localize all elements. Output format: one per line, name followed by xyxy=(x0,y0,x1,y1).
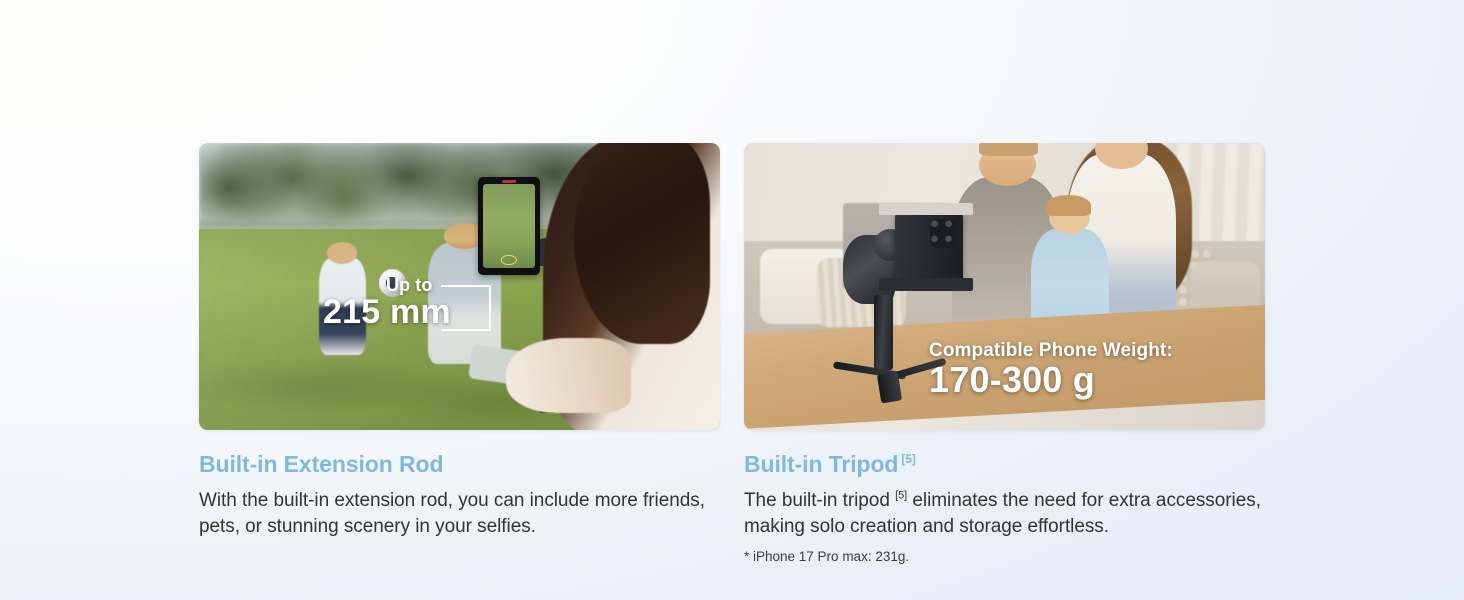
woman-hair xyxy=(574,143,709,344)
extension-rod-overlay-text: Up to 215 mm xyxy=(323,276,451,331)
promo-page: Up to 215 mm Built-in Extension Rod With… xyxy=(0,0,1464,600)
phone-shutter-ring xyxy=(501,255,517,266)
description-text-before: The built-in tripod xyxy=(744,490,895,511)
overlay-line-1: Compatible Phone Weight: xyxy=(929,341,1173,361)
tripod-column xyxy=(874,295,893,370)
description-text: With the built-in extension rod, you can… xyxy=(199,490,705,536)
park-scene-illustration xyxy=(199,143,720,430)
woman-arm xyxy=(506,338,631,413)
phone-camera-module xyxy=(930,219,957,248)
tripod-heading: Built-in Tripod[5] xyxy=(744,451,1265,477)
tripod-overlay-text: Compatible Phone Weight: 170-300 g xyxy=(929,341,1173,399)
mounted-phone xyxy=(895,212,963,284)
feature-card-tripod: Compatible Phone Weight: 170-300 g Built… xyxy=(744,143,1265,564)
extension-rod-image: Up to 215 mm xyxy=(199,143,720,430)
extension-rod-description: With the built-in extension rod, you can… xyxy=(199,488,720,539)
description-footnote-marker: [5] xyxy=(895,490,907,502)
overlay-line-2: 170-300 g xyxy=(929,361,1173,399)
phone-clamp-top xyxy=(879,203,973,214)
mounted-phone xyxy=(478,177,541,275)
tripod-footnote: * iPhone 17 Pro max: 231g. xyxy=(744,549,1265,564)
feature-card-grid: Up to 215 mm Built-in Extension Rod With… xyxy=(199,143,1264,564)
extension-rod-heading: Built-in Extension Rod xyxy=(199,451,720,477)
phone-record-indicator xyxy=(502,180,516,183)
phone-clamp-bottom xyxy=(879,278,973,291)
heading-footnote-marker: [5] xyxy=(901,452,915,466)
heading-text: Built-in Tripod xyxy=(744,451,898,477)
overlay-line-2: 215 mm xyxy=(323,295,451,331)
feature-card-extension-rod: Up to 215 mm Built-in Extension Rod With… xyxy=(199,143,720,564)
tripod-image: Compatible Phone Weight: 170-300 g xyxy=(744,143,1265,430)
heading-text: Built-in Extension Rod xyxy=(199,451,443,477)
tripod-description: The built-in tripod [5] eliminates the n… xyxy=(744,488,1265,539)
